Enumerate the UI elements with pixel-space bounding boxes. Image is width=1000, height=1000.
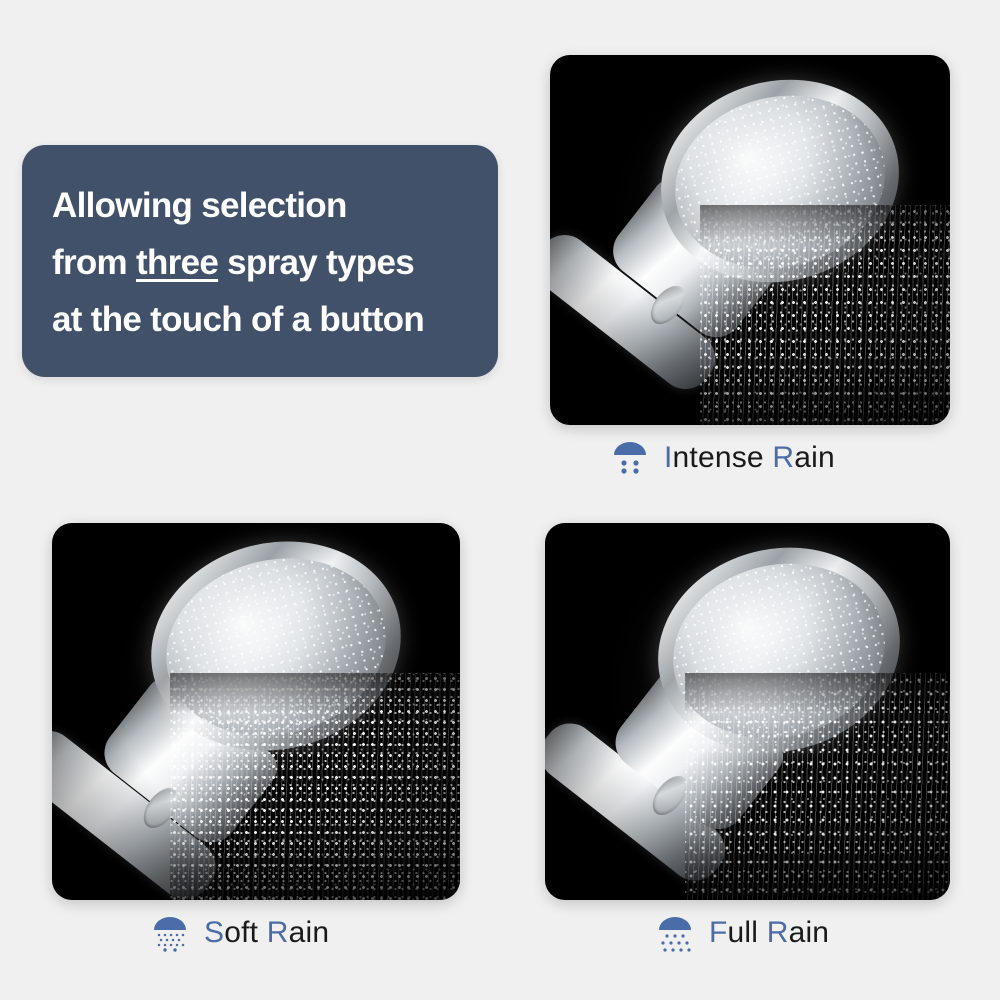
caption-initial-1: F	[709, 916, 728, 949]
headline-line-3: at the touch of a button	[52, 291, 472, 348]
headline-emphasis-three: three	[136, 243, 218, 282]
caption-rest-1: oft	[224, 916, 267, 949]
caption-label: Intense Rain	[664, 441, 835, 475]
caption-rest-2: ain	[289, 916, 330, 949]
water-spray-intense	[700, 205, 950, 425]
product-photo-intense-rain	[550, 55, 950, 425]
headline-line-2-post: spray types	[218, 243, 414, 282]
water-spray-soft	[170, 673, 460, 900]
headline-line-1: Allowing selection	[52, 177, 472, 234]
shower-spray-icon	[150, 913, 190, 953]
shower-spray-icon	[610, 438, 650, 478]
caption-intense-rain: Intense Rain	[610, 438, 835, 478]
caption-initial-1: I	[664, 441, 673, 474]
caption-full-rain: Full Rain	[655, 913, 829, 953]
caption-label: Soft Rain	[204, 916, 329, 950]
caption-rest-2: ain	[794, 441, 835, 474]
product-photo-full-rain	[545, 523, 950, 900]
photo-scene	[550, 55, 950, 425]
photo-scene	[545, 523, 950, 900]
spray-fade	[170, 673, 460, 900]
caption-rest-1: ull	[728, 916, 767, 949]
product-feature-graphic: Allowing selection from three spray type…	[0, 0, 1000, 1000]
headline-line-2: from three spray types	[52, 234, 472, 291]
caption-rest-1: ntense	[673, 441, 773, 474]
caption-initial-2: R	[267, 916, 289, 949]
caption-label: Full Rain	[709, 916, 829, 950]
caption-soft-rain: Soft Rain	[150, 913, 329, 953]
caption-rest-2: ain	[789, 916, 830, 949]
photo-scene	[52, 523, 460, 900]
product-photo-soft-rain	[52, 523, 460, 900]
caption-initial-1: S	[204, 916, 224, 949]
headline-banner: Allowing selection from three spray type…	[22, 145, 498, 377]
spray-fade	[685, 673, 950, 900]
shower-spray-icon	[655, 913, 695, 953]
caption-initial-2: R	[772, 441, 794, 474]
spray-fade	[700, 205, 950, 425]
headline-line-2-pre: from	[52, 243, 136, 282]
caption-initial-2: R	[767, 916, 789, 949]
water-spray-full	[685, 673, 950, 900]
